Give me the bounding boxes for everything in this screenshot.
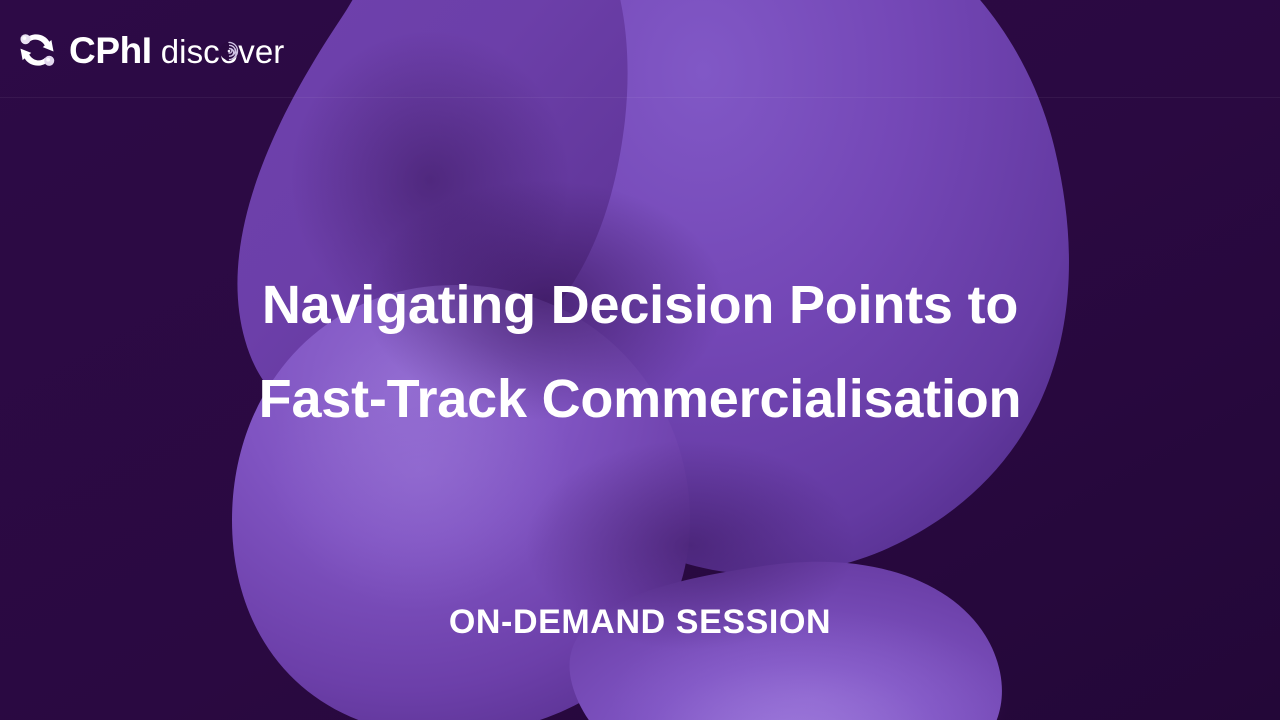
page-title-line-2: Fast-Track Commercialisation <box>60 352 1220 446</box>
session-type-label: ON-DEMAND SESSION <box>0 600 1280 644</box>
slide-content: Navigating Decision Points to Fast-Track… <box>0 0 1280 720</box>
logo-product-swirl-letter: o <box>220 35 238 68</box>
logo-wordmark: CPhI disco ver <box>69 32 284 69</box>
session-title-slide: CPhI disco ver Navigating Decision Point… <box>0 0 1280 720</box>
brand-logo[interactable]: CPhI disco ver <box>14 27 284 73</box>
logo-brand-text: CPhI <box>69 32 152 69</box>
logo-product-text: disco ver <box>161 35 285 68</box>
page-title-line-1: Navigating Decision Points to <box>60 258 1220 352</box>
cycle-arrows-icon <box>14 27 60 73</box>
slide-header: CPhI disco ver <box>0 0 1280 98</box>
page-title: Navigating Decision Points to Fast-Track… <box>0 258 1280 446</box>
logo-product-suffix: ver <box>238 33 284 70</box>
logo-product-prefix: disc <box>161 33 220 70</box>
